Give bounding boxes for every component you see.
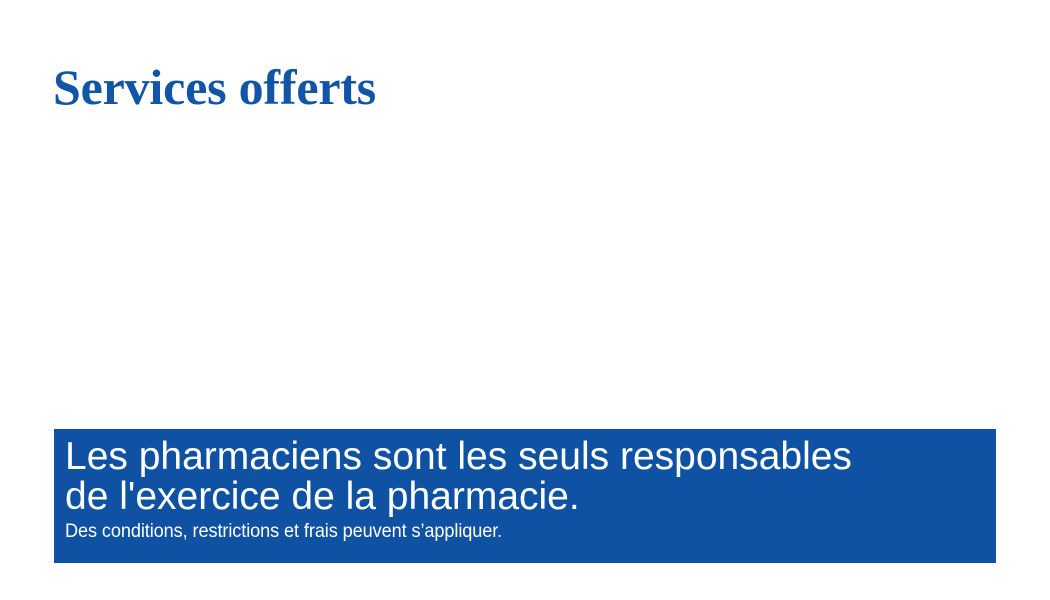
slide-content-area bbox=[54, 130, 996, 420]
callout-headline: Les pharmaciens sont les seuls responsab… bbox=[65, 437, 996, 517]
callout-headline-line-1: Les pharmaciens sont les seuls responsab… bbox=[65, 437, 996, 477]
slide: Services offerts Les pharmaciens sont le… bbox=[0, 0, 1050, 600]
callout-banner: Les pharmaciens sont les seuls responsab… bbox=[54, 429, 996, 563]
page-title: Services offerts bbox=[53, 62, 376, 112]
callout-headline-line-2: de l'exercice de la pharmacie. bbox=[65, 477, 996, 517]
callout-subnote: Des conditions, restrictions et frais pe… bbox=[65, 520, 931, 542]
